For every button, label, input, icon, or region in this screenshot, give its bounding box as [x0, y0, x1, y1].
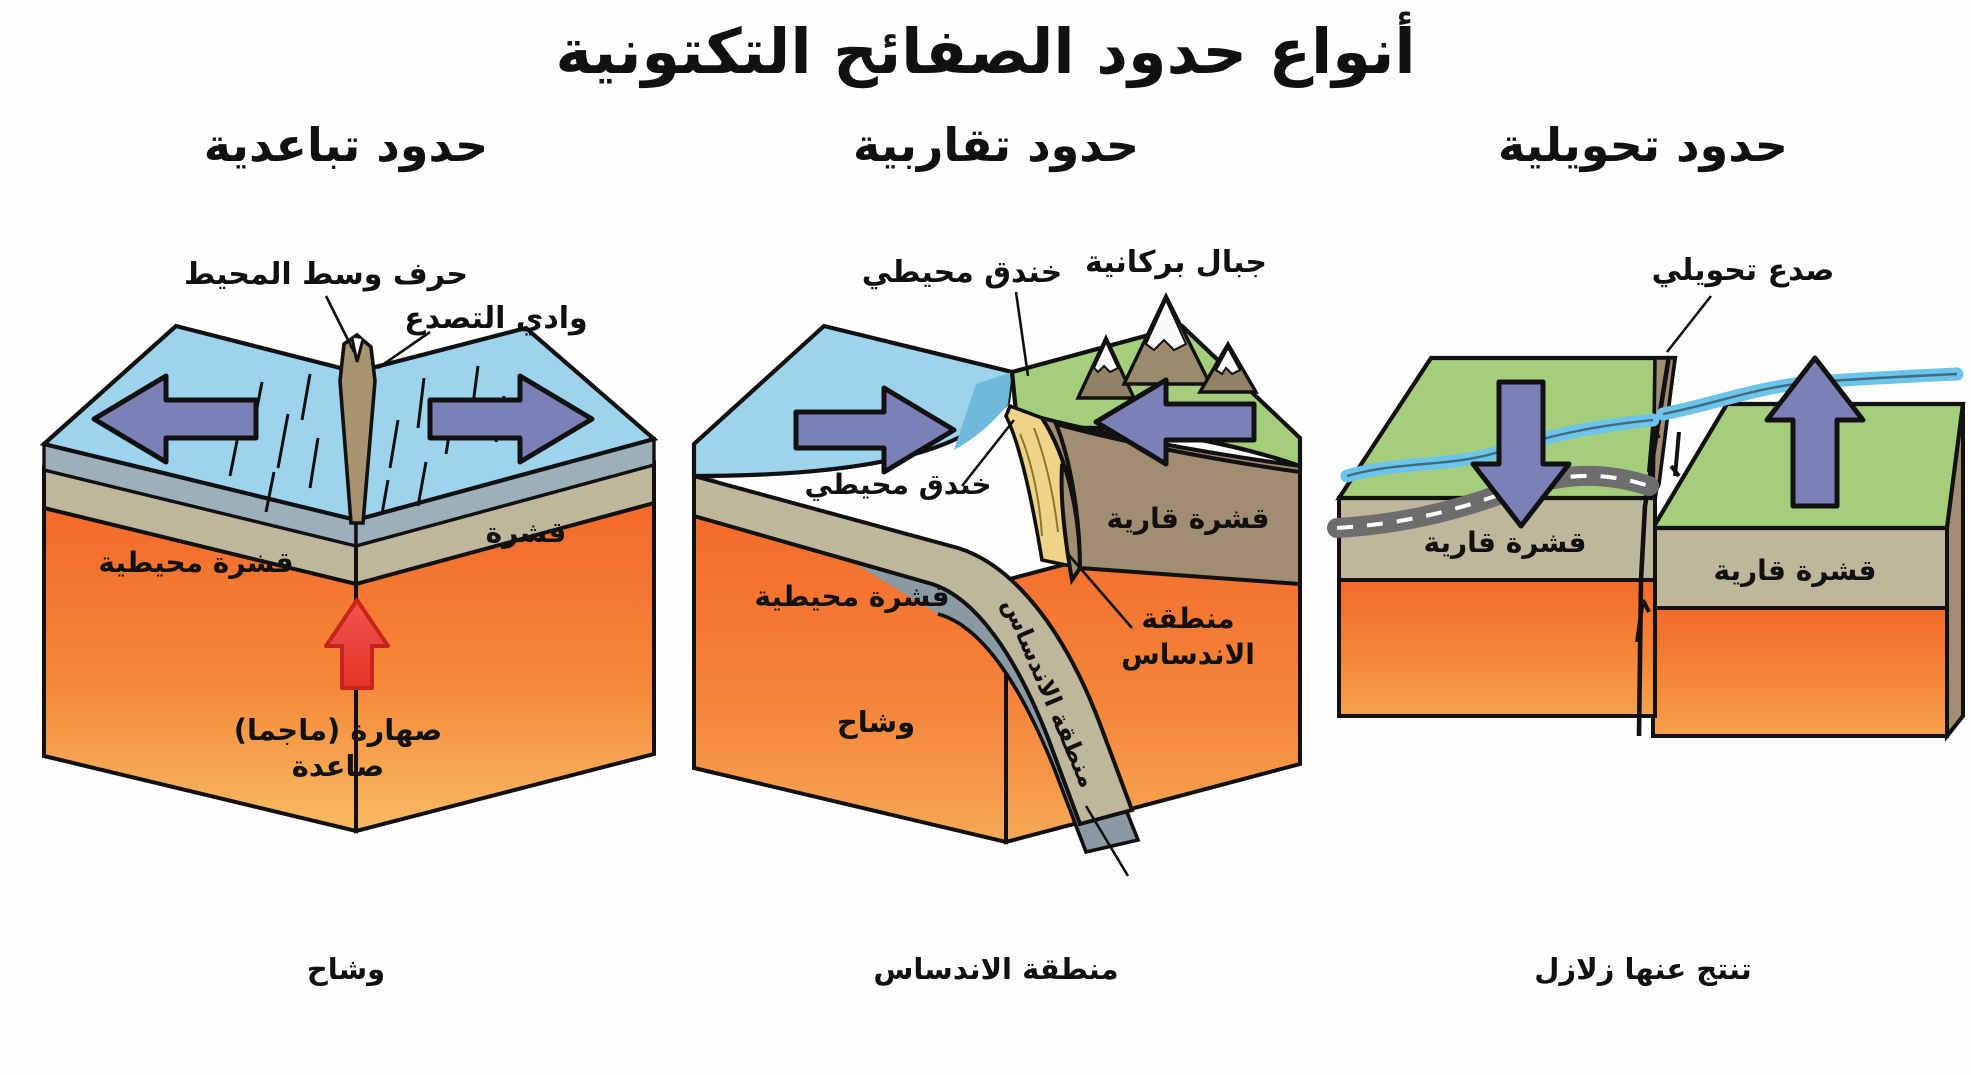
label-subduction-zone-line1: منطقة: [1141, 602, 1234, 635]
page-title: أنواع حدود الصفائح التكتونية: [0, 18, 1971, 86]
label-magma-line1: صهارة (ماجما): [234, 713, 443, 747]
mantle-left: [1339, 578, 1655, 716]
diagram-canvas: أنواع حدود الصفائح التكتونية حدود تباعدي…: [0, 0, 1971, 1075]
label-oceanic-crust: قشرة محيطية: [754, 580, 949, 613]
ocean-surface: [694, 326, 1012, 476]
mantle-right: [1653, 606, 1947, 736]
panel-title-convergent: حدود تقاربية: [676, 118, 1316, 172]
leader-transform-fault: [1667, 296, 1711, 352]
label-continental-crust-right: قشرة قارية: [1714, 554, 1877, 587]
label-mid-ocean-ridge: حرف وسط المحيط: [184, 257, 468, 292]
label-continental-crust: قشرة قارية: [1107, 502, 1270, 535]
panel-title-transform: حدود تحويلية: [1323, 118, 1963, 172]
panel-title-divergent: حدود تباعدية: [26, 118, 666, 172]
label-oceanic-crust: قشرة محيطية: [98, 546, 293, 579]
label-trench-inner: خندق محيطي: [804, 468, 991, 501]
label-magma-line2: صاعدة: [292, 749, 385, 783]
panel-convergent: حدود تقاربية: [676, 118, 1316, 1048]
caption-convergent: منطقة الاندساس: [676, 952, 1316, 986]
label-mantle: وشاح: [837, 705, 915, 739]
panel-divergent: حدود تباعدية: [26, 118, 666, 1048]
label-crust: قشرة: [486, 516, 567, 549]
label-subduction-zone-line2: الاندساس: [1121, 638, 1255, 671]
leader-trench-top: [1016, 292, 1028, 376]
label-transform-fault: صدع تحويلي: [1652, 253, 1835, 288]
label-volcanic-mountains: جبال بركانية: [1085, 245, 1267, 280]
divergent-illustration: حرف وسط المحيط وادي التصدع قشرة محيطية ق…: [26, 176, 666, 976]
transform-illustration: صدع تحويلي قشرة قارية قشرة قارية: [1323, 176, 1963, 976]
label-trench-top: خندق محيطي: [862, 255, 1062, 290]
panel-transform: حدود تحويلية: [1323, 118, 1963, 1048]
leader-ridge: [326, 296, 354, 352]
label-rift-valley: وادي التصدع: [404, 301, 587, 336]
convergent-illustration: خندق محيطي جبال بركانية خندق محيطي قشرة …: [676, 176, 1316, 976]
caption-divergent: وشاح: [26, 952, 666, 986]
label-continental-crust-left: قشرة قارية: [1424, 526, 1587, 559]
caption-transform: تنتج عنها زلازل: [1323, 952, 1963, 986]
